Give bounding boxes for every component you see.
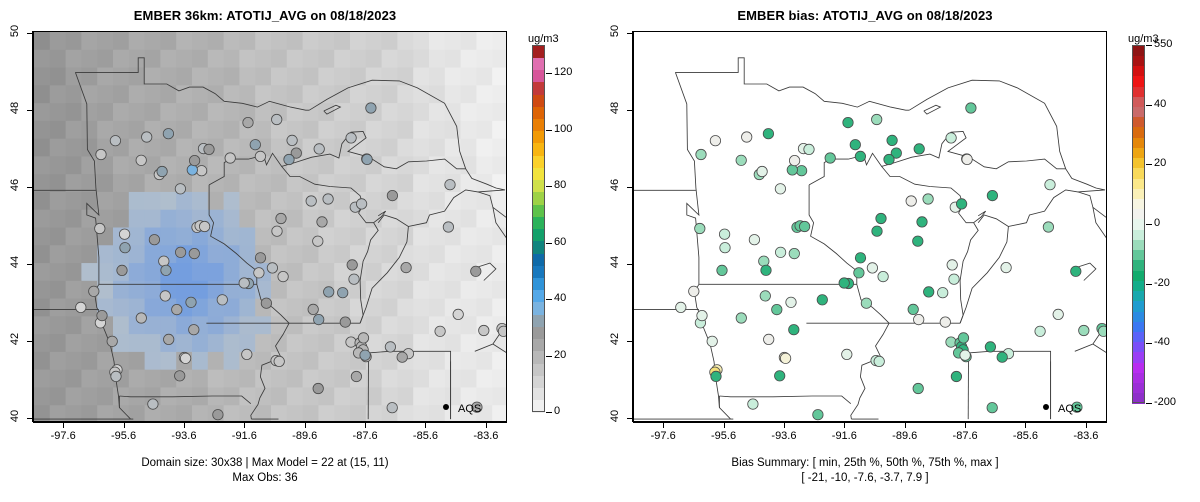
raster-cell — [160, 316, 177, 334]
raster-cell — [97, 121, 114, 139]
observation-marker[interactable] — [196, 166, 206, 176]
raster-cell — [303, 245, 320, 263]
observation-marker[interactable] — [175, 184, 185, 194]
x-tick — [844, 423, 845, 428]
raster-cell — [271, 192, 288, 210]
bias-map-plot[interactable]: AQS — [633, 31, 1107, 422]
observation-marker[interactable] — [1035, 326, 1045, 336]
raster-cell — [271, 370, 288, 388]
observation-marker[interactable] — [960, 350, 970, 360]
observation-marker[interactable] — [284, 154, 294, 164]
observation-marker[interactable] — [157, 166, 167, 176]
raster-cell — [255, 50, 272, 68]
observation-marker[interactable] — [149, 235, 159, 245]
raster-cell — [303, 281, 320, 299]
observation-marker[interactable] — [717, 265, 727, 275]
raster-cell — [34, 139, 51, 157]
observation-marker[interactable] — [278, 271, 288, 281]
colorbar-tick-label: 100 — [554, 123, 572, 135]
observation-marker[interactable] — [707, 336, 717, 346]
raster-cell — [239, 85, 256, 103]
observation-marker[interactable] — [696, 149, 706, 159]
observation-marker[interactable] — [163, 129, 173, 139]
raster-cell — [350, 32, 367, 50]
y-tick — [27, 110, 32, 111]
x-tick — [63, 423, 64, 428]
raster-cell — [318, 68, 335, 86]
observation-marker[interactable] — [775, 371, 785, 381]
raster-cell — [350, 387, 367, 405]
observation-marker[interactable] — [923, 194, 933, 204]
observation-marker[interactable] — [940, 317, 950, 327]
observation-marker[interactable] — [719, 229, 729, 239]
observation-marker[interactable] — [697, 310, 707, 320]
raster-cell — [397, 192, 414, 210]
observation-marker[interactable] — [261, 298, 271, 308]
observation-marker[interactable] — [962, 154, 972, 164]
raster-cell — [81, 263, 98, 281]
raster-cell — [334, 50, 351, 68]
raster-cell — [255, 387, 272, 405]
raster-cell — [303, 263, 320, 281]
raster-cell — [208, 228, 225, 246]
raster-cell — [397, 245, 414, 263]
observation-marker[interactable] — [287, 135, 297, 145]
raster-cell — [50, 370, 67, 388]
observation-marker[interactable] — [908, 304, 918, 314]
raster-cell — [334, 228, 351, 246]
observation-marker[interactable] — [1053, 309, 1063, 319]
observation-marker[interactable] — [946, 133, 956, 143]
observation-marker[interactable] — [1045, 180, 1055, 190]
raster-cell — [176, 281, 193, 299]
observation-marker[interactable] — [799, 221, 809, 231]
observation-marker[interactable] — [338, 288, 348, 298]
observation-marker[interactable] — [362, 154, 372, 164]
observation-marker[interactable] — [780, 353, 790, 363]
raster-cell — [145, 85, 162, 103]
bias-y-axis-line — [632, 31, 633, 422]
raster-cell — [224, 192, 241, 210]
raster-cell — [271, 387, 288, 405]
observation-marker[interactable] — [748, 399, 758, 409]
observation-marker[interactable] — [187, 165, 197, 175]
observation-marker[interactable] — [366, 103, 376, 113]
x-tick — [244, 423, 245, 428]
observation-marker[interactable] — [786, 297, 796, 307]
raster-cell — [66, 192, 83, 210]
observation-marker[interactable] — [89, 286, 99, 296]
observation-marker[interactable] — [254, 268, 264, 278]
raster-cell — [50, 121, 67, 139]
observation-marker[interactable] — [757, 166, 767, 176]
raster-cell — [66, 85, 83, 103]
observation-marker[interactable] — [96, 149, 106, 159]
raster-cell — [271, 245, 288, 263]
raster-cell — [81, 245, 98, 263]
observation-marker[interactable] — [749, 235, 759, 245]
colorbar-tick-label: 60 — [554, 236, 566, 248]
observation-marker[interactable] — [676, 302, 686, 312]
observation-marker[interactable] — [97, 310, 107, 320]
observation-marker[interactable] — [199, 221, 209, 231]
observation-marker[interactable] — [987, 190, 997, 200]
observation-marker[interactable] — [360, 350, 370, 360]
colorbar-tick-label: 20 — [554, 349, 566, 361]
colorbar-tick — [1146, 343, 1152, 344]
observation-marker[interactable] — [225, 153, 235, 163]
observation-marker[interactable] — [189, 248, 199, 258]
observation-marker[interactable] — [314, 144, 324, 154]
model-caption-line2: Max Obs: 36 — [0, 472, 530, 484]
raster-cell — [129, 210, 146, 228]
raster-cell — [192, 370, 209, 388]
raster-cell — [113, 192, 130, 210]
observation-marker[interactable] — [695, 223, 705, 233]
observation-marker[interactable] — [313, 236, 323, 246]
observation-marker[interactable] — [313, 383, 323, 393]
observation-marker[interactable] — [878, 271, 888, 281]
observation-marker[interactable] — [175, 247, 185, 257]
raster-east-band — [413, 32, 506, 421]
observation-marker[interactable] — [914, 314, 924, 324]
raster-cell — [366, 228, 383, 246]
observation-marker[interactable] — [267, 263, 277, 273]
raster-cell — [208, 387, 225, 405]
observation-marker[interactable] — [324, 287, 334, 297]
observation-marker[interactable] — [117, 265, 127, 275]
raster-cell — [81, 334, 98, 352]
raster-cell — [34, 316, 51, 334]
observation-marker[interactable] — [387, 403, 397, 413]
observation-marker[interactable] — [825, 153, 835, 163]
raster-cell — [176, 263, 193, 281]
observation-marker[interactable] — [189, 155, 199, 165]
observation-marker[interactable] — [710, 136, 720, 146]
raster-cell — [239, 370, 256, 388]
observation-marker[interactable] — [397, 352, 407, 362]
observation-marker[interactable] — [323, 194, 333, 204]
raster-cell — [366, 316, 383, 334]
observation-marker[interactable] — [876, 213, 886, 223]
observation-marker[interactable] — [913, 236, 923, 246]
observation-marker[interactable] — [947, 260, 957, 270]
observation-marker[interactable] — [272, 226, 282, 236]
observation-marker[interactable] — [985, 342, 995, 352]
x-tick — [663, 423, 664, 428]
observation-marker[interactable] — [453, 309, 463, 319]
observation-marker[interactable] — [949, 274, 959, 284]
raster-cell — [287, 245, 304, 263]
raster-cell — [397, 387, 414, 405]
raster-cell — [208, 352, 225, 370]
raster-cell — [50, 156, 67, 174]
observation-marker[interactable] — [775, 247, 785, 257]
observation-marker[interactable] — [987, 403, 997, 413]
raster-cell — [397, 85, 414, 103]
observation-marker[interactable] — [759, 256, 769, 266]
observation-marker[interactable] — [855, 253, 865, 263]
observation-marker[interactable] — [843, 117, 853, 127]
raster-cell — [239, 228, 256, 246]
observation-marker[interactable] — [443, 222, 453, 232]
observation-marker[interactable] — [720, 243, 730, 253]
observation-marker[interactable] — [274, 356, 284, 366]
colorbar-outline — [532, 45, 545, 412]
y-axis-line — [32, 31, 33, 422]
raster-cell — [350, 68, 367, 86]
observation-marker[interactable] — [242, 349, 252, 359]
observation-marker[interactable] — [884, 154, 894, 164]
observation-marker[interactable] — [867, 263, 877, 273]
raster-cell — [382, 103, 399, 121]
observation-marker[interactable] — [186, 297, 196, 307]
observation-marker[interactable] — [142, 132, 152, 142]
y-tick — [627, 264, 632, 265]
observation-marker[interactable] — [763, 129, 773, 139]
observation-marker[interactable] — [906, 196, 916, 206]
observation-marker[interactable] — [796, 166, 806, 176]
raster-cell — [287, 387, 304, 405]
model-map-canvas: AQS — [34, 32, 506, 421]
observation-marker[interactable] — [1079, 325, 1089, 335]
observation-marker[interactable] — [346, 133, 356, 143]
raster-cell — [81, 50, 98, 68]
observation-marker[interactable] — [435, 326, 445, 336]
observation-marker[interactable] — [761, 265, 771, 275]
observation-marker[interactable] — [351, 371, 361, 381]
observation-marker[interactable] — [854, 268, 864, 278]
raster-cell — [34, 192, 51, 210]
observation-marker[interactable] — [874, 356, 884, 366]
observation-marker[interactable] — [872, 114, 882, 124]
observation-marker[interactable] — [401, 262, 411, 272]
raster-cell — [145, 210, 162, 228]
y-tick — [627, 110, 632, 111]
observation-marker[interactable] — [239, 278, 249, 288]
raster-cell — [176, 210, 193, 228]
observation-marker[interactable] — [107, 336, 117, 346]
observation-marker[interactable] — [189, 325, 199, 335]
observation-marker[interactable] — [110, 136, 120, 146]
observation-marker[interactable] — [742, 132, 752, 142]
observation-marker[interactable] — [872, 226, 882, 236]
x-tick — [905, 423, 906, 428]
observation-marker[interactable] — [317, 217, 327, 227]
raster-cell — [318, 352, 335, 370]
observation-marker[interactable] — [498, 326, 506, 336]
observation-marker[interactable] — [958, 333, 968, 343]
observation-marker[interactable] — [340, 317, 350, 327]
x-tick — [124, 423, 125, 428]
raster-cell — [129, 85, 146, 103]
observation-marker[interactable] — [385, 342, 395, 352]
observation-marker[interactable] — [951, 371, 961, 381]
observation-marker[interactable] — [775, 184, 785, 194]
observation-marker[interactable] — [887, 135, 897, 145]
raster-cell — [160, 210, 177, 228]
raster-cell — [129, 263, 146, 281]
observation-marker[interactable] — [445, 180, 455, 190]
observation-marker[interactable] — [1043, 222, 1053, 232]
observation-marker[interactable] — [204, 144, 214, 154]
raster-cell — [34, 50, 51, 68]
observation-marker[interactable] — [250, 140, 260, 150]
raster-cell — [318, 156, 335, 174]
raster-cell — [66, 405, 83, 421]
observation-marker[interactable] — [842, 349, 852, 359]
raster-cell — [366, 32, 383, 50]
observation-marker[interactable] — [159, 256, 169, 266]
raster-cell — [129, 68, 146, 86]
observation-marker[interactable] — [813, 410, 823, 420]
observation-marker[interactable] — [136, 155, 146, 165]
observation-marker[interactable] — [164, 334, 174, 344]
observation-marker[interactable] — [349, 274, 359, 284]
raster-cell — [129, 281, 146, 299]
x-tick-label: -91.6 — [214, 430, 274, 442]
observation-marker[interactable] — [308, 304, 318, 314]
observation-marker[interactable] — [997, 352, 1007, 362]
x-tick-label: -93.6 — [754, 430, 814, 442]
raster-cell — [397, 174, 414, 192]
observation-marker[interactable] — [479, 325, 489, 335]
raster-cell — [255, 228, 272, 246]
observation-marker[interactable] — [861, 298, 871, 308]
raster-cell — [192, 32, 209, 50]
raster-cell — [129, 245, 146, 263]
raster-cell — [208, 121, 225, 139]
observation-marker[interactable] — [764, 334, 774, 344]
observation-marker[interactable] — [817, 295, 827, 305]
observation-marker[interactable] — [272, 114, 282, 124]
observation-marker[interactable] — [711, 371, 721, 381]
observation-marker[interactable] — [148, 399, 158, 409]
observation-marker[interactable] — [306, 196, 316, 206]
observation-marker[interactable] — [175, 371, 185, 381]
raster-cell — [208, 334, 225, 352]
raster-cell — [303, 32, 320, 50]
observation-marker[interactable] — [772, 304, 782, 314]
raster-cell — [66, 139, 83, 157]
observation-marker[interactable] — [736, 155, 746, 165]
observation-marker[interactable] — [839, 278, 849, 288]
observation-marker[interactable] — [314, 314, 324, 324]
observation-marker[interactable] — [347, 260, 357, 270]
observation-marker[interactable] — [276, 213, 286, 223]
raster-cell — [397, 121, 414, 139]
raster-cell — [287, 210, 304, 228]
observation-marker[interactable] — [789, 248, 799, 258]
observation-marker[interactable] — [736, 313, 746, 323]
raster-cell — [208, 68, 225, 86]
observation-marker[interactable] — [789, 155, 799, 165]
observation-marker[interactable] — [217, 295, 227, 305]
y-tick-label: 50 — [609, 16, 621, 46]
observation-marker[interactable] — [111, 371, 121, 381]
observation-marker[interactable] — [804, 144, 814, 154]
raster-cell — [113, 68, 130, 86]
model-map-plot[interactable]: AQS — [33, 31, 507, 422]
observation-marker[interactable] — [855, 151, 865, 161]
raster-cell — [97, 50, 114, 68]
observation-marker[interactable] — [917, 217, 927, 227]
raster-cell — [382, 50, 399, 68]
observation-marker[interactable] — [136, 313, 146, 323]
observation-marker[interactable] — [213, 410, 223, 420]
observation-marker[interactable] — [913, 383, 923, 393]
observation-marker[interactable] — [358, 333, 368, 343]
raster-cell — [66, 263, 83, 281]
raster-cell — [113, 281, 130, 299]
observation-marker[interactable] — [1071, 266, 1081, 276]
raster-cell — [50, 210, 67, 228]
raster-cell — [224, 316, 241, 334]
observation-marker[interactable] — [787, 165, 797, 175]
raster-cell — [160, 32, 177, 50]
observation-marker[interactable] — [914, 144, 924, 154]
observation-marker[interactable] — [120, 243, 130, 253]
aqs-legend-dot — [443, 404, 449, 410]
observation-marker[interactable] — [956, 199, 966, 209]
observation-marker[interactable] — [1098, 326, 1106, 336]
bias-map-svg: AQS — [634, 32, 1106, 421]
observation-marker[interactable] — [760, 291, 770, 301]
observation-marker[interactable] — [471, 266, 481, 276]
observation-marker[interactable] — [76, 302, 86, 312]
y-tick-label: 48 — [9, 93, 21, 123]
raster-cell — [34, 370, 51, 388]
observation-marker[interactable] — [172, 304, 182, 314]
y-tick-label: 44 — [609, 247, 621, 277]
raster-cell — [81, 405, 98, 421]
x-tick-label: -93.6 — [154, 430, 214, 442]
observation-marker[interactable] — [356, 199, 366, 209]
raster-cell — [224, 263, 241, 281]
observation-marker[interactable] — [160, 291, 170, 301]
observation-marker[interactable] — [119, 229, 129, 239]
observation-marker[interactable] — [689, 286, 699, 296]
observation-marker[interactable] — [255, 253, 265, 263]
raster-cell — [145, 352, 162, 370]
raster-cell — [208, 370, 225, 388]
observation-marker[interactable] — [1001, 262, 1011, 272]
observation-marker[interactable] — [924, 287, 934, 297]
observation-marker[interactable] — [161, 265, 171, 275]
raster-cell — [397, 139, 414, 157]
observation-marker[interactable] — [243, 117, 253, 127]
raster-cell — [239, 210, 256, 228]
raster-cell — [318, 174, 335, 192]
aqs-legend-label: AQS — [458, 403, 481, 415]
raster-cell — [34, 210, 51, 228]
observation-marker[interactable] — [789, 325, 799, 335]
raster-cell — [176, 103, 193, 121]
observation-marker[interactable] — [938, 288, 948, 298]
observation-marker[interactable] — [850, 140, 860, 150]
raster-cell — [81, 370, 98, 388]
observation-marker[interactable] — [180, 353, 190, 363]
observation-marker[interactable] — [387, 190, 397, 200]
bias-x-axis-line — [633, 422, 1107, 423]
observation-marker[interactable] — [95, 223, 105, 233]
observation-marker[interactable] — [255, 151, 265, 161]
raster-cell — [81, 387, 98, 405]
raster-cell — [176, 192, 193, 210]
y-tick — [627, 418, 632, 419]
observation-marker[interactable] — [966, 103, 976, 113]
raster-cell — [255, 68, 272, 86]
